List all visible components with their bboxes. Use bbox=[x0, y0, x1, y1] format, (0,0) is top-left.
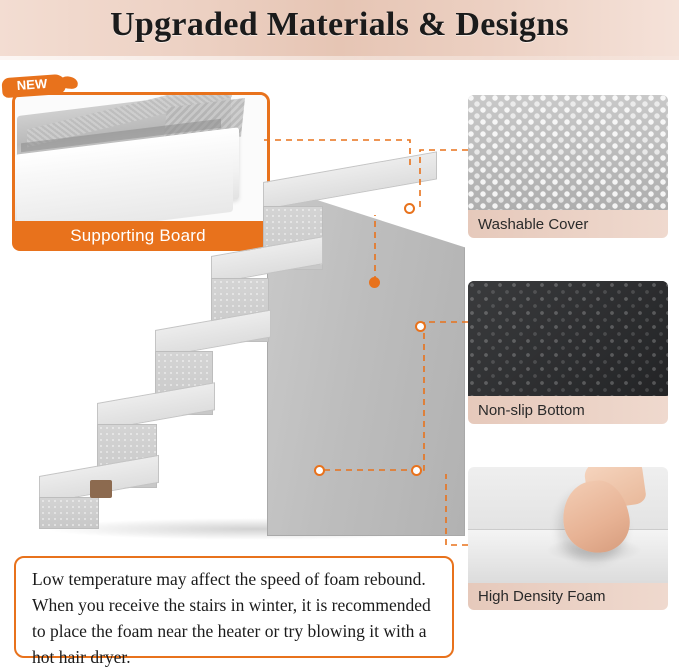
thumbnail-washable-cover: Washable Cover bbox=[468, 95, 668, 238]
non-slip-bottom-caption: Non-slip Bottom bbox=[468, 396, 668, 424]
high-density-foam-caption: High Density Foam bbox=[468, 582, 668, 610]
temperature-note-text: Low temperature may affect the speed of … bbox=[32, 566, 436, 670]
non-slip-bottom-texture-image bbox=[468, 281, 668, 396]
hotspot-dot-5 bbox=[411, 465, 422, 476]
hotspot-dot-4 bbox=[314, 465, 325, 476]
washable-cover-texture-image bbox=[468, 95, 668, 210]
high-density-foam-image bbox=[468, 467, 668, 582]
washable-cover-caption: Washable Cover bbox=[468, 210, 668, 238]
thumbnail-high-density-foam: High Density Foam bbox=[468, 467, 668, 610]
thumbnail-non-slip-bottom: Non-slip Bottom bbox=[468, 281, 668, 424]
hotspot-dot-2 bbox=[404, 203, 415, 214]
new-badge: NEW bbox=[2, 72, 66, 102]
hotspot-dot-1 bbox=[369, 277, 380, 288]
brand-tag-icon bbox=[90, 480, 112, 498]
header-banner: Upgraded Materials & Designs bbox=[0, 0, 679, 60]
page-title: Upgraded Materials & Designs bbox=[0, 6, 679, 44]
step-5-tread bbox=[263, 151, 437, 210]
product-infographic: Upgraded Materials & Designs Supporting … bbox=[0, 0, 679, 671]
step-1-riser bbox=[39, 497, 99, 529]
product-image-stairs bbox=[35, 150, 465, 550]
hotspot-dot-3 bbox=[415, 321, 426, 332]
temperature-note-box: Low temperature may affect the speed of … bbox=[14, 556, 454, 658]
